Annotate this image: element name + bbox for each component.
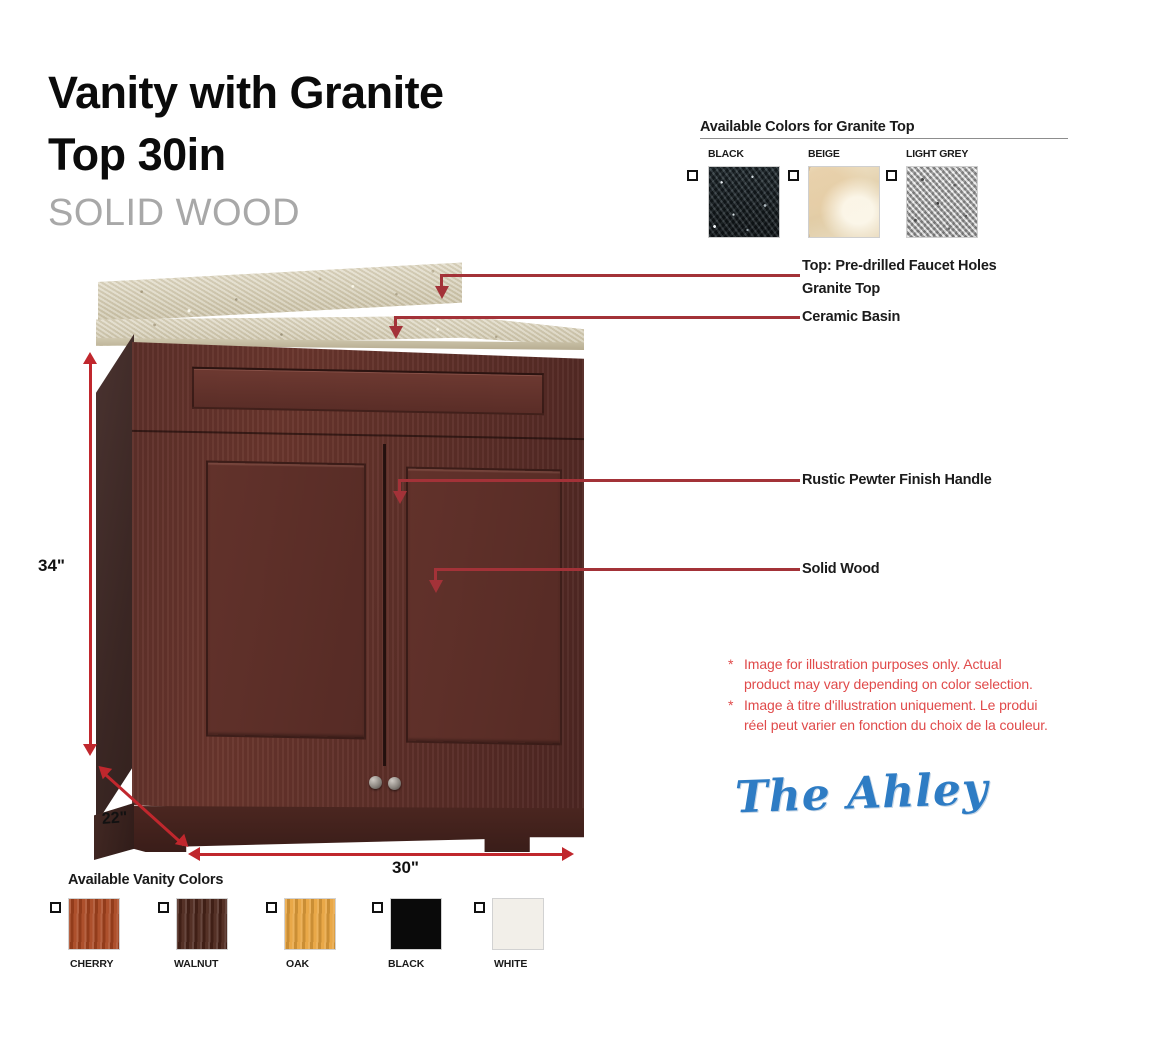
disclaimer-text-en-2: product may vary depending on color sele… [744,674,1088,694]
vanity-swatch-cherry[interactable] [68,898,120,950]
width-dimension-line [198,853,568,856]
disclaimer-block: * Image for illustration purposes only. … [728,654,1088,735]
cabinet-side-panel [96,334,134,824]
vanity-checkbox-oak[interactable] [266,902,277,913]
granite-colors-heading: Available Colors for Granite Top [700,119,1100,135]
vanity-checkbox-white[interactable] [474,902,485,913]
page-subtitle: SOLID WOOD [48,192,300,235]
granite-option-label-beige: BEIGE [808,148,840,160]
granite-option-label-black: BLACK [708,148,744,160]
vanity-label-white: WHITE [494,958,527,970]
granite-checkbox-black[interactable] [687,170,698,181]
cabinet-base-toe-kick [132,806,584,852]
product-illustration [86,276,596,846]
disclaimer-star-fr: * [728,695,744,715]
page-title-line2: Top 30in [48,124,668,186]
granite-option-label-light-grey: LIGHT GREY [906,148,968,160]
granite-swatch-light-grey[interactable] [906,166,978,238]
door-knob-left-icon[interactable] [369,776,382,789]
callout-arrow-handle-icon [393,491,407,504]
cabinet-top-rail-panel [192,367,544,415]
disclaimer-line-en-1: * Image for illustration purposes only. … [728,654,1088,674]
callout-leader-ceramic-basin [394,316,800,319]
disclaimer-line-en-2: product may vary depending on color sele… [728,674,1088,694]
granite-backsplash [98,263,462,322]
callout-label-solid-wood: Solid Wood [802,561,879,577]
callout-leader-faucet-holes [440,274,800,277]
vanity-swatch-walnut[interactable] [176,898,228,950]
disclaimer-spacer-fr [728,715,744,735]
disclaimer-line-fr-2: réel peut varier en fonction du choix de… [728,715,1088,735]
disclaimer-star-en: * [728,654,744,674]
granite-swatch-row: BLACK BEIGE LIGHT GREY [700,148,1100,244]
disclaimer-text-fr-1: Image à titre d'illustration uniquement.… [744,695,1088,715]
callout-label-faucet-holes: Top: Pre-drilled Faucet Holes [802,258,997,274]
vanity-label-black: BLACK [388,958,424,970]
granite-swatch-beige[interactable] [808,166,880,238]
disclaimer-spacer-en [728,674,744,694]
door-knob-right-icon[interactable] [388,777,401,790]
width-arrow-left-icon [188,847,200,861]
granite-colors-panel: Available Colors for Granite Top BLACK B… [700,119,1100,244]
width-dimension-label: 30" [392,858,419,878]
cabinet-door-right[interactable] [406,467,562,746]
page-title-line1: Vanity with Granite [48,62,668,124]
disclaimer-text-en-1: Image for illustration purposes only. Ac… [744,654,1088,674]
disclaimer-text-fr-2: réel peut varier en fonction du choix de… [744,715,1088,735]
callout-arrow-faucet-holes-icon [435,286,449,299]
cabinet-door-gap [383,444,386,766]
callout-arrow-ceramic-basin-icon [389,326,403,339]
callout-leader-solid-wood [434,568,800,571]
callout-label-handle: Rustic Pewter Finish Handle [802,472,992,488]
cabinet-door-left[interactable] [206,461,366,740]
vanity-swatch-oak[interactable] [284,898,336,950]
vanity-label-walnut: WALNUT [174,958,218,970]
granite-heading-divider [700,138,1068,139]
vanity-checkbox-walnut[interactable] [158,902,169,913]
vanity-swatch-white[interactable] [492,898,544,950]
depth-dimension-label: 22" [101,809,128,829]
callout-label-granite-top: Granite Top [802,281,880,297]
vanity-colors-heading: Available Vanity Colors [68,872,223,888]
height-dimension-label: 34" [38,556,65,576]
vanity-label-cherry: CHERRY [70,958,113,970]
disclaimer-line-fr-1: * Image à titre d'illustration uniquemen… [728,695,1088,715]
granite-checkbox-light-grey[interactable] [886,170,897,181]
width-arrow-right-icon [562,847,574,861]
granite-swatch-black[interactable] [708,166,780,238]
vanity-checkbox-black[interactable] [372,902,383,913]
callout-label-ceramic-basin: Ceramic Basin [802,309,900,325]
height-arrow-bottom-icon [83,744,97,756]
vanity-checkbox-cherry[interactable] [50,902,61,913]
height-dimension-line [89,362,92,748]
brand-logo: The Ahley [734,764,989,824]
vanity-swatch-black[interactable] [390,898,442,950]
callout-leader-handle [398,479,800,482]
callout-arrow-solid-wood-icon [429,580,443,593]
height-arrow-top-icon [83,352,97,364]
vanity-label-oak: OAK [286,958,309,970]
page-title: Vanity with Granite Top 30in [48,62,668,186]
granite-checkbox-beige[interactable] [788,170,799,181]
